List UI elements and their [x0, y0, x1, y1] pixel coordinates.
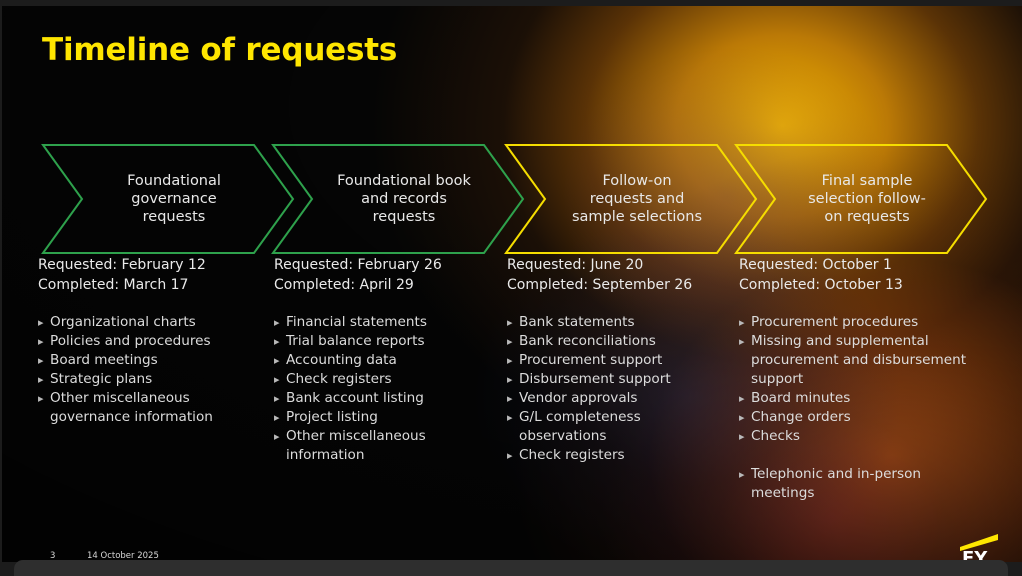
timeline-dates-1: Requested: February 12Completed: March 1… — [38, 256, 253, 295]
list-item: Missing and supplemental procurement and… — [739, 332, 974, 389]
timeline-column-3: Requested: June 20Completed: September 2… — [507, 256, 722, 481]
list-item: Accounting data — [274, 351, 489, 370]
list-item: Other miscellaneous governance informati… — [38, 389, 253, 427]
list-item: Check registers — [507, 446, 722, 465]
list-item: Trial balance reports — [274, 332, 489, 351]
list-item: Check registers — [274, 370, 489, 389]
timeline-chevron-label-1: Foundationalgovernancerequests — [90, 144, 258, 254]
timeline-dates-3: Requested: June 20Completed: September 2… — [507, 256, 722, 295]
timeline-dates-4: Requested: October 1Completed: October 1… — [739, 256, 974, 295]
requested-date: Requested: February 12 — [38, 256, 253, 276]
list-item: Financial statements — [274, 313, 489, 332]
completed-date: Completed: April 29 — [274, 276, 489, 296]
list-item: G/L completeness observations — [507, 408, 722, 446]
list-item: Board meetings — [38, 351, 253, 370]
list-item: Other miscellaneous information — [274, 427, 489, 465]
timeline-column-2: Requested: February 26Completed: April 2… — [274, 256, 489, 481]
list-item: Telephonic and in-person meetings — [739, 465, 974, 503]
completed-date: Completed: October 13 — [739, 276, 974, 296]
requested-date: Requested: February 26 — [274, 256, 489, 276]
ey-logo: EY — [946, 530, 1002, 562]
list-item: Disbursement support — [507, 370, 722, 389]
list-item: Bank statements — [507, 313, 722, 332]
timeline-column-4: Requested: October 1Completed: October 1… — [739, 256, 974, 519]
list-item: Checks — [739, 427, 974, 446]
list-item: Board minutes — [739, 389, 974, 408]
timeline-bullet-list-3: Bank statementsBank reconciliationsProcu… — [507, 313, 722, 465]
timeline-chevron-band: FoundationalgovernancerequestsFoundation… — [2, 144, 1022, 256]
list-item: Strategic plans — [38, 370, 253, 389]
slide-viewer: Timeline of requests Foundationalgoverna… — [0, 0, 1022, 576]
completed-date: Completed: March 17 — [38, 276, 253, 296]
timeline-chevron-label-4: Final sampleselection follow-on requests — [783, 144, 951, 254]
timeline-bullet-list-4: Procurement proceduresMissing and supple… — [739, 313, 974, 503]
list-item: Bank account listing — [274, 389, 489, 408]
timeline-chevron-label-3: Follow-onrequests andsample selections — [553, 144, 721, 254]
requested-date: Requested: October 1 — [739, 256, 974, 276]
list-item: Organizational charts — [38, 313, 253, 332]
list-item: Procurement procedures — [739, 313, 974, 332]
list-item: Change orders — [739, 408, 974, 427]
list-item: Vendor approvals — [507, 389, 722, 408]
viewer-chrome-bar — [14, 560, 1008, 576]
timeline-column-1: Requested: February 12Completed: March 1… — [38, 256, 253, 443]
timeline-chevron-label-2: Foundational bookand recordsrequests — [320, 144, 488, 254]
list-item: Policies and procedures — [38, 332, 253, 351]
timeline-bullet-list-2: Financial statementsTrial balance report… — [274, 313, 489, 465]
list-item: Project listing — [274, 408, 489, 427]
timeline-bullet-list-1: Organizational chartsPolicies and proced… — [38, 313, 253, 427]
slide-canvas: Timeline of requests Foundationalgoverna… — [2, 6, 1022, 562]
requested-date: Requested: June 20 — [507, 256, 722, 276]
page-title: Timeline of requests — [42, 32, 397, 68]
list-item: Bank reconciliations — [507, 332, 722, 351]
completed-date: Completed: September 26 — [507, 276, 722, 296]
timeline-dates-2: Requested: February 26Completed: April 2… — [274, 256, 489, 295]
list-item: Procurement support — [507, 351, 722, 370]
